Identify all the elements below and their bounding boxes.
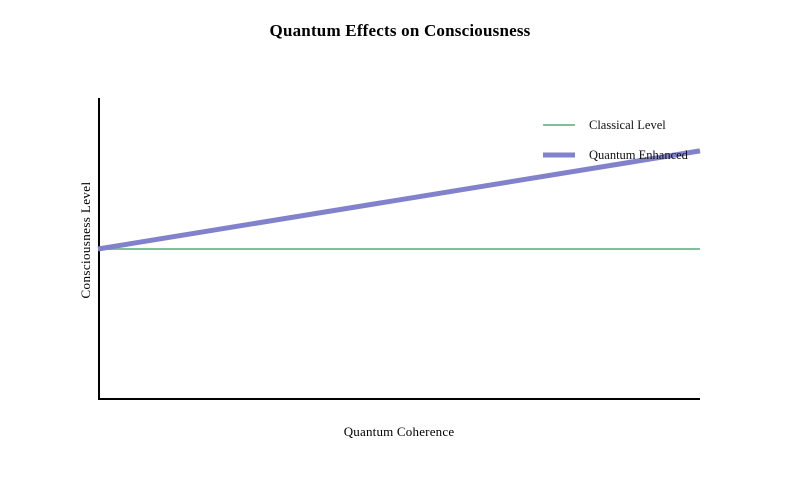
chart-title: Quantum Effects on Consciousness xyxy=(0,21,800,41)
legend-label-classical-level: Classical Level xyxy=(589,118,666,133)
legend-label-quantum-enhanced: Quantum Enhanced xyxy=(589,148,688,163)
legend-item-classical-level: Classical Level xyxy=(543,110,688,140)
legend-item-quantum-enhanced: Quantum Enhanced xyxy=(543,140,688,170)
chart-legend: Classical Level Quantum Enhanced xyxy=(543,110,688,170)
legend-swatch-quantum-enhanced xyxy=(543,149,575,161)
x-axis-label: Quantum Coherence xyxy=(98,424,700,440)
legend-swatch-classical-level xyxy=(543,119,575,131)
chart-figure: Quantum Effects on Consciousness Conscio… xyxy=(0,0,800,500)
y-axis-label: Consciousness Level xyxy=(78,40,94,440)
plot-area: Consciousness Level Quantum Coherence Cl… xyxy=(98,98,700,400)
